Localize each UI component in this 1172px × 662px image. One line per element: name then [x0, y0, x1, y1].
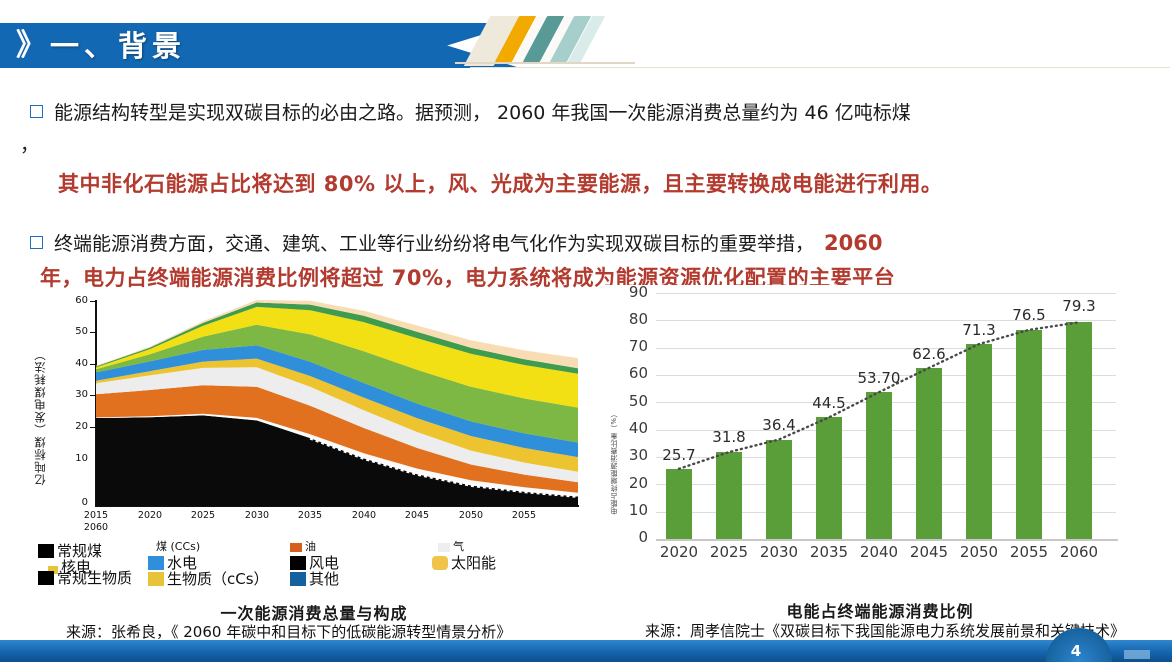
legend-item-other: 其他	[290, 568, 339, 589]
bullet-square-icon	[30, 236, 43, 249]
right-chart-ytick: 70	[614, 337, 648, 355]
right-chart-ytick: 40	[614, 419, 648, 437]
legend-item-conventional-biomass: 常规生物质	[38, 567, 132, 588]
right-chart-ytick: 90	[614, 283, 648, 301]
left-margin-rule	[0, 0, 5, 662]
bullet-paragraph-2-text: 终端能源消费方面，交通、建筑、工业等行业纷纷将电气化作为实现双碳目标的重要举措，	[54, 233, 814, 255]
legend-swatch-icon	[290, 543, 302, 552]
slide-footer-bar	[0, 640, 1172, 662]
ribbon-trail-line	[470, 67, 1170, 68]
left-chart-ytick-mark	[90, 364, 96, 365]
right-chart-plot-area	[656, 293, 1116, 539]
right-chart-ytick: 80	[614, 310, 648, 328]
bullet-paragraph-1-tail-text: ，	[20, 134, 39, 156]
highlight-text-1: 其中非化石能源占比将达到 80% 以上，风、光成为主要能源，且主要转换成电能进行…	[58, 168, 942, 198]
left-chart-ytick: 20	[62, 421, 88, 432]
left-chart-ytick: 60	[62, 295, 88, 306]
left-chart: 亿吨标煤（发电煤耗法）	[38, 292, 590, 540]
legend-swatch-icon	[438, 543, 450, 552]
legend-swatch-icon	[432, 556, 448, 570]
decorative-ribbon	[455, 14, 635, 70]
right-chart-x-axis	[656, 539, 1118, 541]
left-chart-xtick: 2020	[130, 510, 170, 521]
double-chevron-right-icon: 》	[16, 29, 42, 63]
legend-item-solar: 太阳能	[432, 552, 496, 573]
left-chart-xtick: 2055	[504, 510, 544, 521]
right-chart-xtick: 2060	[1048, 543, 1110, 561]
right-chart-ytick: 60	[614, 364, 648, 382]
left-chart-xtick: 2045	[397, 510, 437, 521]
left-chart-xtick: 2035	[290, 510, 330, 521]
slide-canvas: 》 一、背景 能源结构转型是实现双碳目标的必由之路。据预测， 2060 年我国一…	[0, 0, 1172, 662]
bullet-square-icon	[30, 105, 43, 118]
page-number: 4	[1066, 642, 1086, 660]
left-chart-ytick: 40	[62, 358, 88, 369]
right-chart-ytick: 0	[614, 528, 648, 546]
bullet-paragraph-2-year: 2060	[824, 231, 882, 255]
left-chart-y-axis-label: 亿吨标煤（发电煤耗法）	[32, 348, 48, 486]
left-chart-xtick: 2025	[183, 510, 223, 521]
left-chart-xtick: 2040	[344, 510, 384, 521]
left-chart-xtick: 2050	[451, 510, 491, 521]
left-chart-plot-area	[96, 300, 578, 506]
bullet-paragraph-2: 终端能源消费方面，交通、建筑、工业等行业纷纷将电气化作为实现双碳目标的重要举措，…	[30, 228, 1160, 259]
left-chart-xtick: 2060	[76, 522, 116, 533]
left-chart-ytick-mark	[90, 395, 96, 396]
bullet-paragraph-1-text: 能源结构转型是实现双碳目标的必由之路。据预测， 2060 年我国一次能源消费总量…	[54, 102, 911, 124]
legend-swatch-icon	[38, 571, 54, 585]
legend-label: 太阳能	[451, 554, 496, 572]
legend-swatch-icon	[290, 572, 306, 586]
left-chart-ytick: 0	[62, 497, 88, 508]
left-chart-legend: 常规煤 核电 常规生物质 煤 (CCs) 水电 生物质（cCs） 油 风电 其他	[38, 538, 598, 590]
footer-accent-tab	[1124, 650, 1150, 659]
legend-label: 其他	[309, 570, 339, 588]
page-title: 一、背景	[50, 26, 186, 66]
legend-label: 生物质（cCs）	[167, 570, 269, 588]
right-chart-ytick: 20	[614, 474, 648, 492]
right-chart-ytick: 10	[614, 501, 648, 519]
left-chart-ytick-mark	[90, 427, 96, 428]
right-chart-ytick: 50	[614, 392, 648, 410]
bar-value-label: 36.4	[748, 416, 810, 434]
legend-label: 常规生物质	[57, 569, 132, 587]
ribbon-underline	[455, 62, 635, 64]
bullet-paragraph-1-tail: ，	[20, 130, 1140, 160]
right-chart: 电能占终端能源消费比重（%）	[600, 285, 1165, 595]
left-chart-xtick: 2030	[237, 510, 277, 521]
bullet-paragraph-1: 能源结构转型是实现双碳目标的必由之路。据预测， 2060 年我国一次能源消费总量…	[30, 98, 1150, 128]
left-chart-ytick: 50	[62, 326, 88, 337]
legend-swatch-icon	[148, 572, 164, 586]
bar-value-label: 79.3	[1048, 297, 1110, 315]
right-chart-ytick: 30	[614, 446, 648, 464]
bar-value-label: 44.5	[798, 394, 860, 412]
bar-value-label: 25.7	[648, 446, 710, 464]
left-chart-ytick: 30	[62, 389, 88, 400]
right-chart-trend-line	[656, 293, 1116, 539]
bar-value-label: 62.6	[898, 345, 960, 363]
legend-item-biomass-ccs: 生物质（cCs）	[148, 568, 269, 589]
bar-value-label: 53.70	[848, 369, 910, 387]
left-chart-ytick-mark	[90, 332, 96, 333]
left-chart-ytick-mark	[90, 301, 96, 302]
left-chart-stacked-area-svg	[96, 300, 578, 506]
left-chart-xtick: 2015	[76, 510, 116, 521]
slide-title-banner: 》 一、背景	[0, 23, 520, 68]
left-chart-ytick: 10	[62, 453, 88, 464]
